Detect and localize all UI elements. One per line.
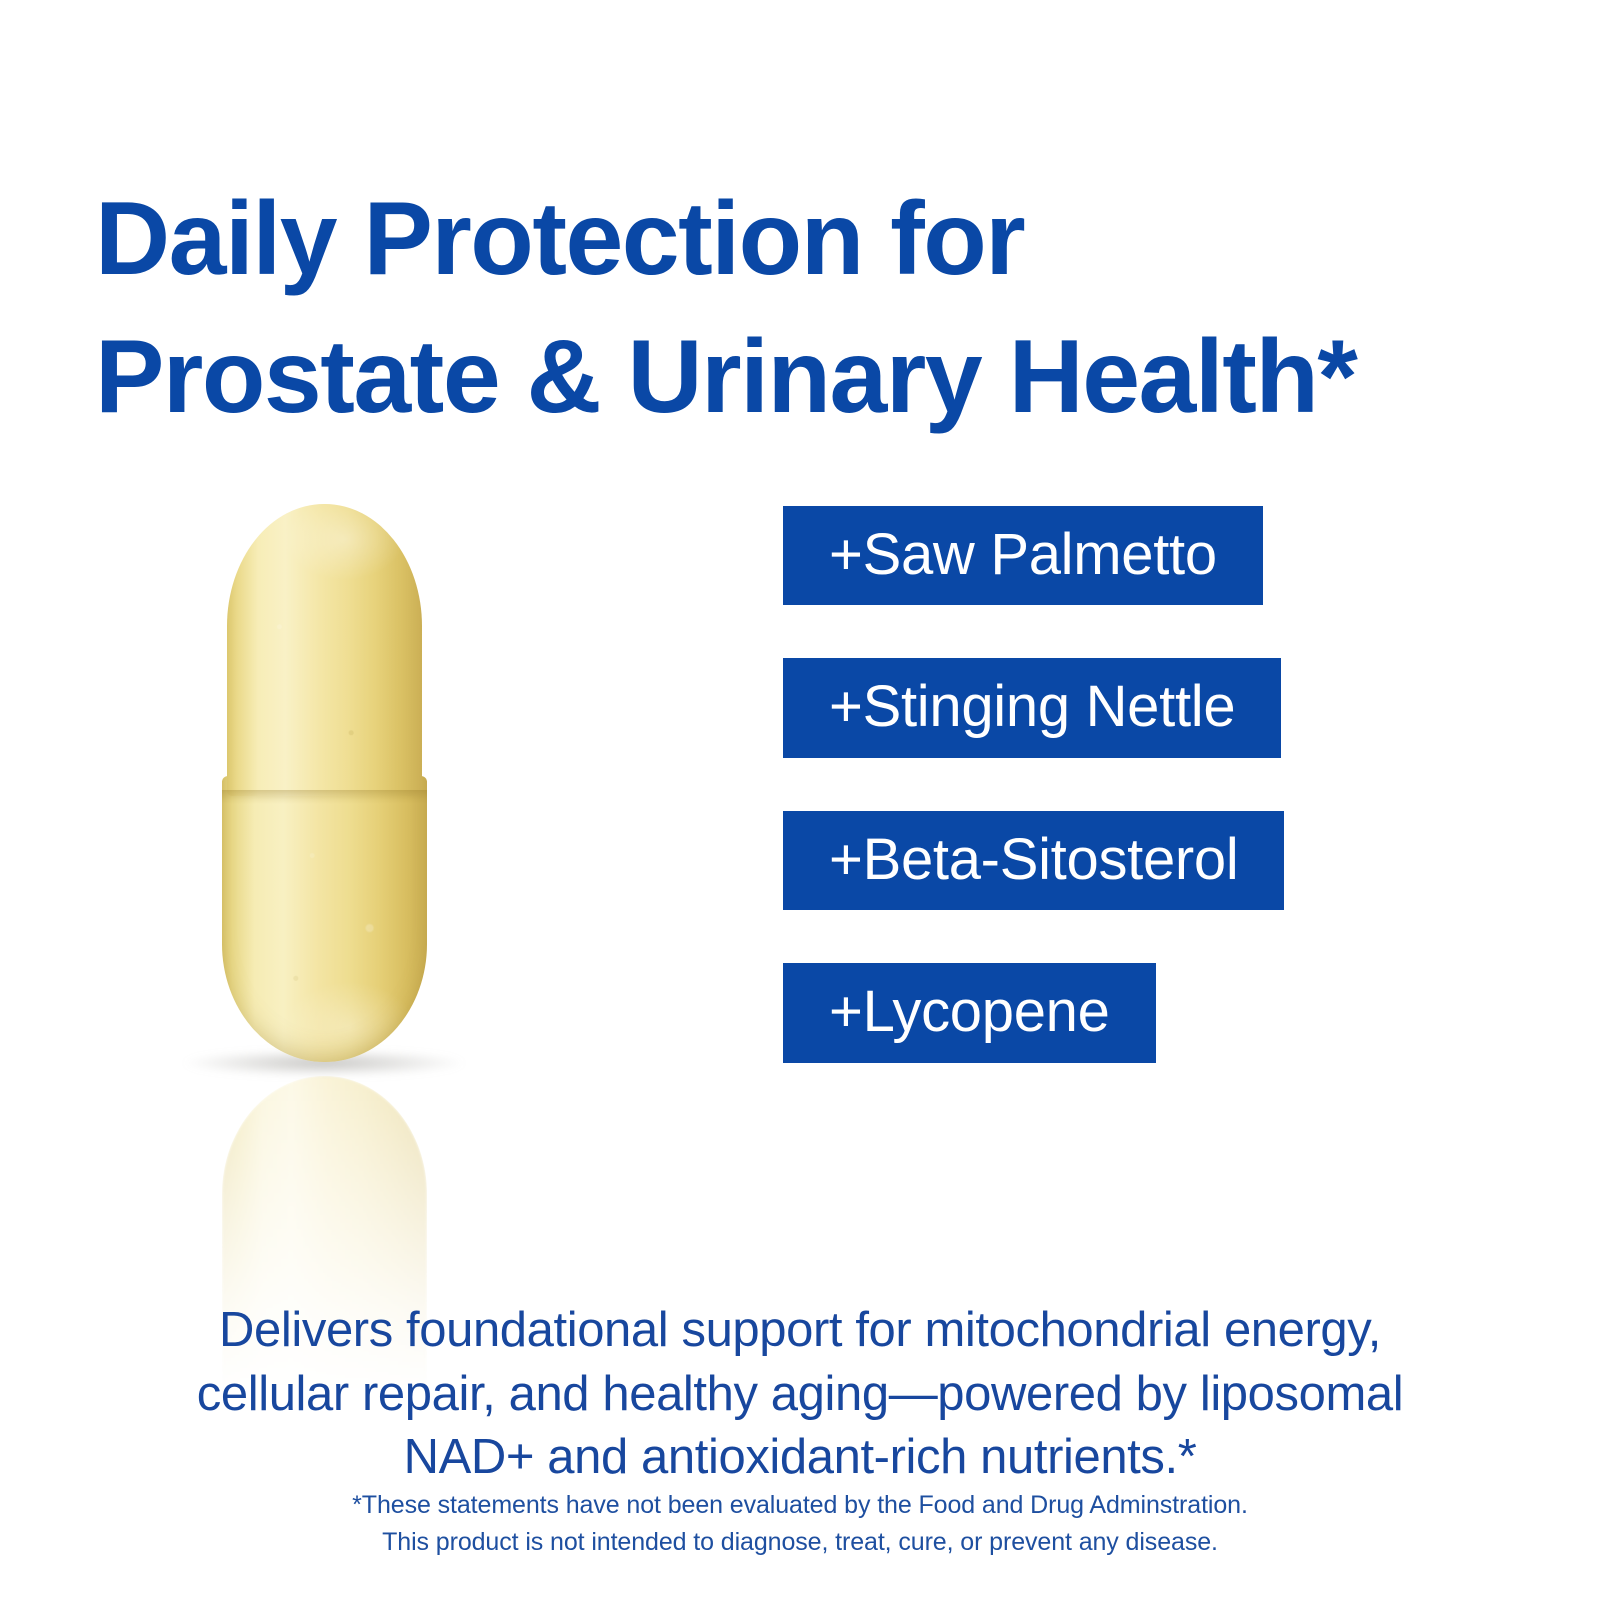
ingredient-badge-lycopene: +Lycopene bbox=[783, 963, 1156, 1062]
ingredient-badge-list: +Saw Palmetto +Stinging Nettle +Beta-Sit… bbox=[783, 506, 1543, 1063]
page-title-line-1: Daily Protection for bbox=[95, 170, 1545, 308]
product-description-line-3: NAD+ and antioxidant-rich nutrients.* bbox=[100, 1426, 1500, 1490]
ingredient-badge-stinging-nettle: +Stinging Nettle bbox=[783, 658, 1281, 757]
ingredient-badge-beta-sitosterol: +Beta-Sitosterol bbox=[783, 811, 1284, 910]
capsule-cap-half bbox=[227, 504, 422, 796]
product-marketing-banner: Daily Protection for Prostate & Urinary … bbox=[0, 0, 1600, 1600]
capsule-graphic bbox=[222, 504, 427, 1062]
capsule-body-half bbox=[222, 776, 427, 1062]
page-title: Daily Protection for Prostate & Urinary … bbox=[95, 170, 1545, 447]
ingredient-badge-saw-palmetto: +Saw Palmetto bbox=[783, 506, 1263, 605]
page-title-line-2: Prostate & Urinary Health* bbox=[95, 308, 1545, 446]
fda-disclaimer-line-2: This product is not intended to diagnose… bbox=[100, 1524, 1500, 1561]
product-description: Delivers foundational support for mitoch… bbox=[100, 1299, 1500, 1490]
product-image-capsule bbox=[150, 490, 530, 1110]
fda-disclaimer-line-1: *These statements have not been evaluate… bbox=[100, 1487, 1500, 1524]
product-description-line-2: cellular repair, and healthy aging—power… bbox=[100, 1363, 1500, 1427]
fda-disclaimer: *These statements have not been evaluate… bbox=[100, 1487, 1500, 1561]
product-description-line-1: Delivers foundational support for mitoch… bbox=[100, 1299, 1500, 1363]
